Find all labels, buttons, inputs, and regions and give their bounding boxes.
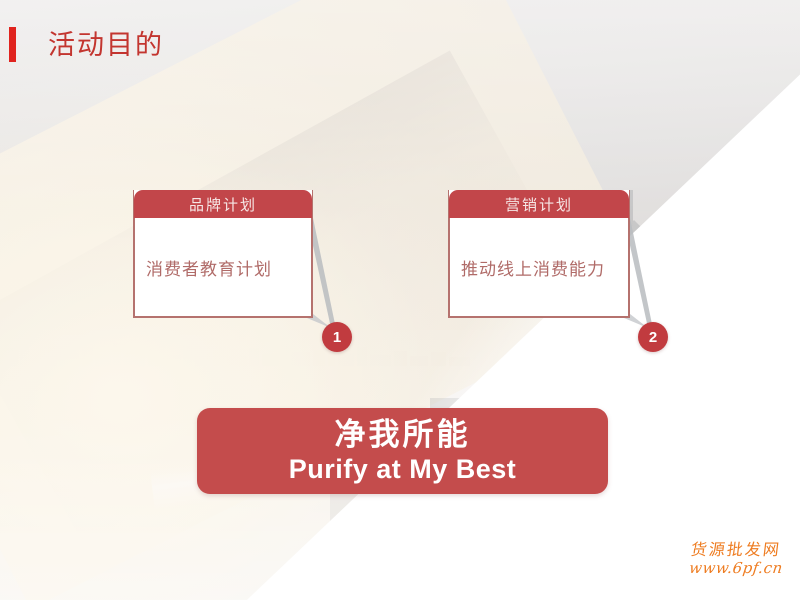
card-2-body: 推动线上消费能力: [449, 218, 629, 317]
watermark-site-name: 货源批发网: [675, 540, 797, 559]
card-2-number-label: 2: [649, 329, 657, 346]
card-1-header: 品牌计划: [134, 190, 312, 218]
card-1-body: 消费者教育计划: [134, 218, 312, 317]
card-2-number-badge: 2: [638, 322, 668, 352]
slogan-banner[interactable]: 净我所能 Purify at My Best: [197, 408, 608, 494]
slogan-english: Purify at My Best: [289, 453, 517, 485]
card-1-number-label: 1: [333, 329, 341, 346]
card-2-header: 营销计划: [449, 190, 629, 218]
card-2-box: 营销计划 推动线上消费能力: [448, 190, 630, 318]
plan-card-2[interactable]: 营销计划 推动线上消费能力: [448, 190, 630, 318]
watermark: 货源批发网 www.6pf.cn: [676, 540, 796, 577]
slide-canvas: 活动目的 品牌计划 消费者教育计划 1 营销计划 推动线上消费能力: [0, 0, 800, 600]
plan-card-1[interactable]: 品牌计划 消费者教育计划: [133, 190, 313, 318]
background-photo: [0, 0, 800, 600]
card-1-body-text: 消费者教育计划: [135, 255, 283, 280]
watermark-url: www.6pf.cn: [675, 559, 797, 577]
title-accent-bar: [9, 27, 16, 62]
card-1-number-badge: 1: [322, 322, 352, 352]
page-title: 活动目的: [48, 28, 164, 62]
card-1-box: 品牌计划 消费者教育计划: [133, 190, 313, 318]
card-2-body-text: 推动线上消费能力: [450, 255, 616, 280]
slogan-chinese: 净我所能: [335, 417, 471, 453]
